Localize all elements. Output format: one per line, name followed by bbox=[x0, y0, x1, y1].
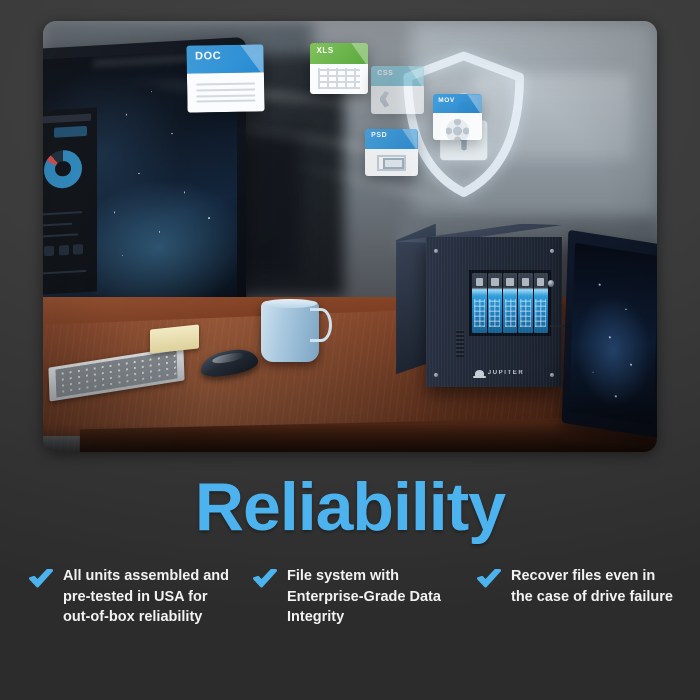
feature-text: Recover files even in the case of drive … bbox=[511, 566, 676, 607]
file-icon-doc: DOC bbox=[187, 44, 265, 112]
app-highlight-pill bbox=[53, 126, 86, 137]
donut-chart-icon bbox=[44, 148, 82, 189]
feature-item: All units assembled and pre-tested in US… bbox=[28, 566, 240, 628]
page-title: Reliability bbox=[0, 473, 700, 541]
power-button-icon bbox=[548, 280, 555, 287]
laptop-screen bbox=[569, 242, 657, 425]
drive-bay bbox=[472, 273, 486, 333]
file-label: DOC bbox=[195, 49, 221, 61]
check-icon bbox=[28, 568, 54, 590]
hero-photo: JUPITER DOC bbox=[43, 21, 657, 452]
feature-list: All units assembled and pre-tested in US… bbox=[28, 566, 688, 628]
feature-item: File system with Enterprise-Grade Data I… bbox=[252, 566, 464, 628]
file-label: XLS bbox=[316, 46, 333, 55]
nas-brand-label: JUPITER bbox=[488, 370, 525, 376]
mug-handle bbox=[310, 308, 332, 342]
drive-bay bbox=[488, 273, 502, 333]
file-label: MOV bbox=[438, 97, 455, 104]
file-icon-psd: PSD bbox=[365, 129, 417, 176]
nas-device: JUPITER bbox=[396, 224, 562, 388]
drive-bay bbox=[518, 273, 532, 333]
file-label: PSD bbox=[371, 132, 387, 139]
file-icon-xls: XLS bbox=[310, 43, 368, 95]
file-icon-mov: MOV bbox=[433, 94, 482, 139]
app-toolbar bbox=[43, 113, 91, 123]
drive-bay bbox=[503, 273, 517, 333]
laptop bbox=[562, 229, 657, 437]
drive-bay bbox=[534, 273, 548, 333]
feature-text: All units assembled and pre-tested in US… bbox=[63, 566, 231, 628]
feature-text: File system with Enterprise-Grade Data I… bbox=[287, 566, 447, 628]
nas-front-panel: JUPITER bbox=[426, 237, 562, 388]
feature-item: Recover files even in the case of drive … bbox=[476, 566, 688, 628]
nas-drive-bays bbox=[469, 270, 551, 336]
jupiter-logo-icon bbox=[475, 370, 484, 377]
monitor-dashboard-app bbox=[43, 107, 97, 294]
nas-brand-logo: JUPITER bbox=[475, 370, 525, 377]
file-label: CSS bbox=[377, 70, 393, 77]
nas-vent bbox=[456, 330, 464, 357]
check-icon bbox=[476, 568, 502, 590]
check-icon bbox=[252, 568, 278, 590]
file-icon-css: CSS bbox=[371, 66, 423, 113]
